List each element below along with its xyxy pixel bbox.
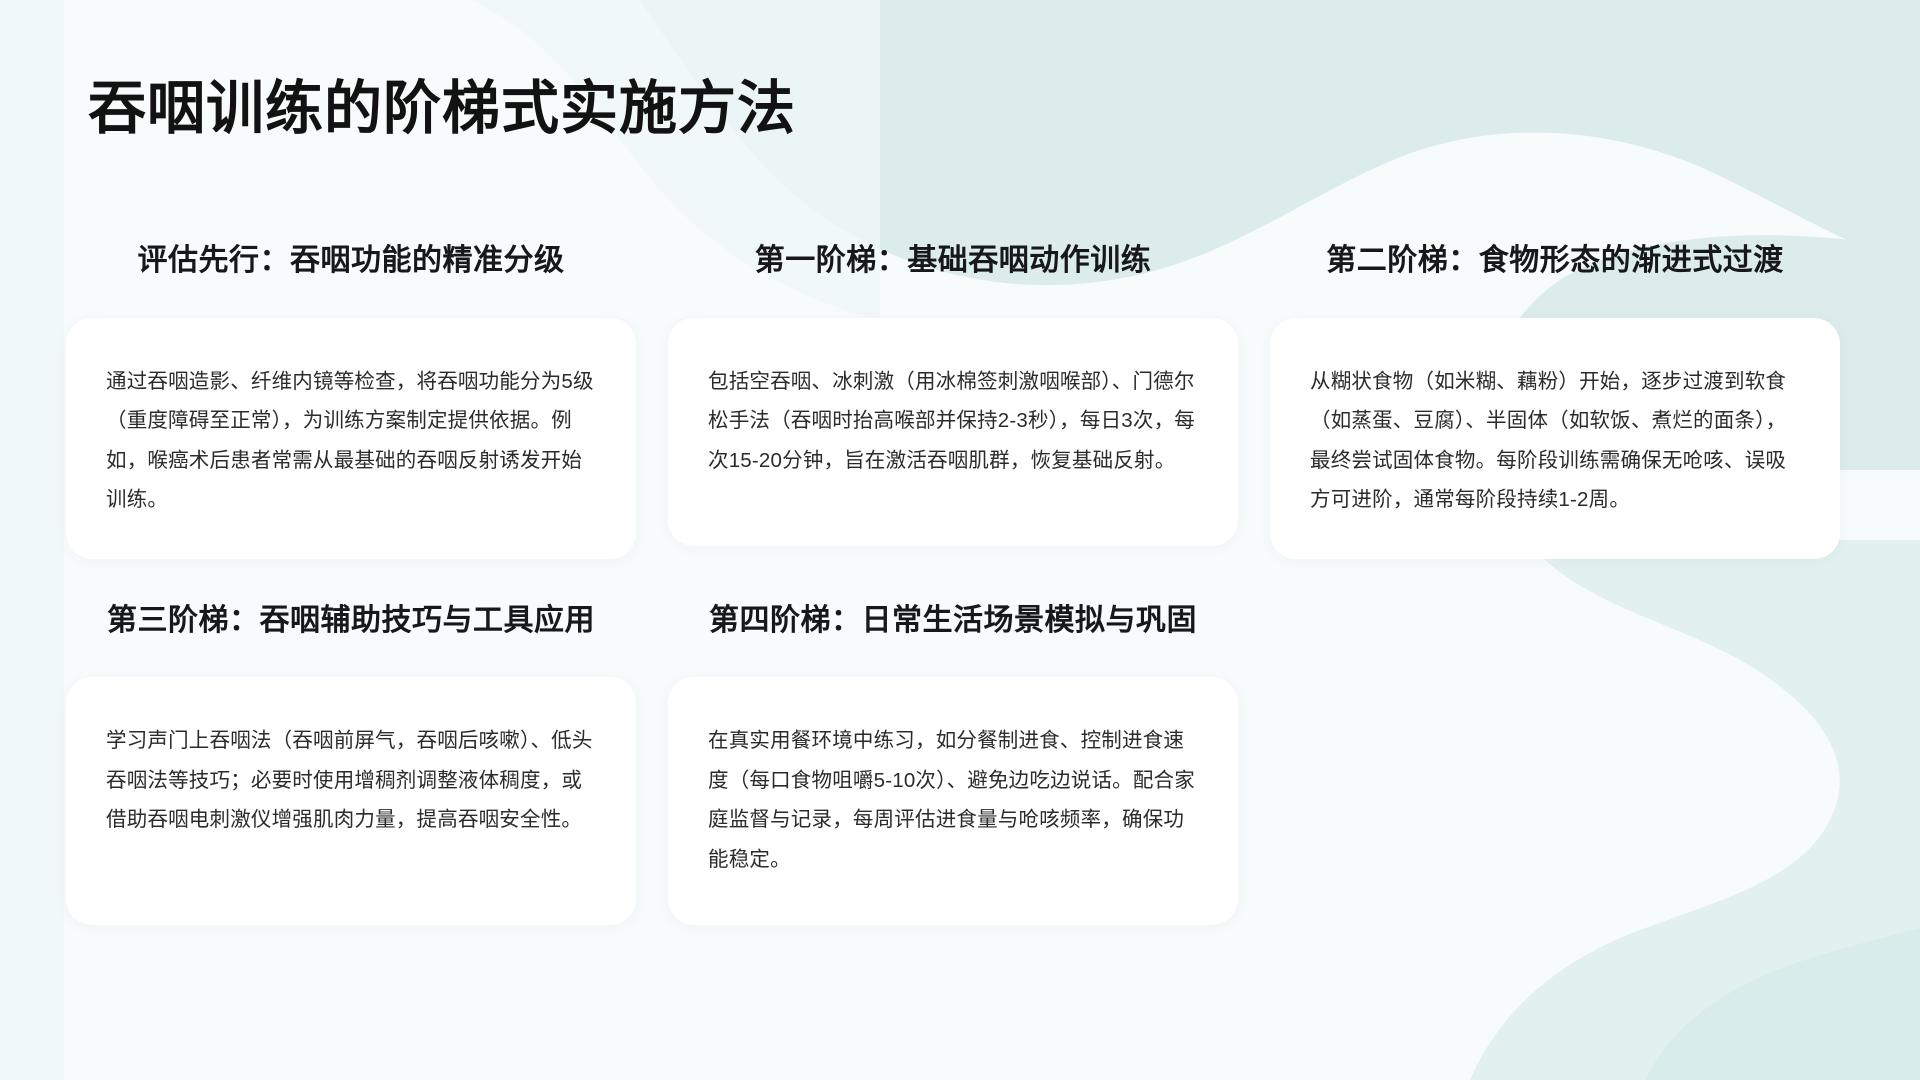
card-body-step-four: 在真实用餐环境中练习，如分餐制进食、控制进食速度（每口食物咀嚼5-10次）、避免… xyxy=(708,721,1198,878)
card-cell-empty xyxy=(1270,589,1840,925)
card-cell-step-one: 第一阶梯：基础吞咽动作训练 包括空吞咽、冰刺激（用冰棉签刺激咽喉部）、门德尔松手… xyxy=(668,230,1238,559)
card-step-three[interactable]: 学习声门上吞咽法（吞咽前屏气，吞咽后咳嗽）、低头吞咽法等技巧；必要时使用增稠剂调… xyxy=(66,677,636,925)
card-body-step-three: 学习声门上吞咽法（吞咽前屏气，吞咽后咳嗽）、低头吞咽法等技巧；必要时使用增稠剂调… xyxy=(106,721,596,839)
slide-root: 吞咽训练的阶梯式实施方法 评估先行：吞咽功能的精准分级 通过吞咽造影、纤维内镜等… xyxy=(0,0,1920,1080)
card-heading-step-four: 第四阶梯：日常生活场景模拟与巩固 xyxy=(668,589,1238,651)
card-body-step-two: 从糊状食物（如米糊、藕粉）开始，逐步过渡到软食（如蒸蛋、豆腐）、半固体（如软饭、… xyxy=(1310,362,1800,519)
card-step-one[interactable]: 包括空吞咽、冰刺激（用冰棉签刺激咽喉部）、门德尔松手法（吞咽时抬高喉部并保持2-… xyxy=(668,318,1238,546)
card-cell-step-two: 第二阶梯：食物形态的渐进式过渡 从糊状食物（如米糊、藕粉）开始，逐步过渡到软食（… xyxy=(1270,230,1840,559)
card-cell-assessment: 评估先行：吞咽功能的精准分级 通过吞咽造影、纤维内镜等检查，将吞咽功能分为5级（… xyxy=(66,230,636,559)
content-grid: 评估先行：吞咽功能的精准分级 通过吞咽造影、纤维内镜等检查，将吞咽功能分为5级（… xyxy=(0,230,1920,925)
card-body-step-one: 包括空吞咽、冰刺激（用冰棉签刺激咽喉部）、门德尔松手法（吞咽时抬高喉部并保持2-… xyxy=(708,362,1198,480)
card-assessment[interactable]: 通过吞咽造影、纤维内镜等检查，将吞咽功能分为5级（重度障碍至正常），为训练方案制… xyxy=(66,318,636,559)
card-cell-step-three: 第三阶梯：吞咽辅助技巧与工具应用 学习声门上吞咽法（吞咽前屏气，吞咽后咳嗽）、低… xyxy=(66,589,636,925)
card-step-two[interactable]: 从糊状食物（如米糊、藕粉）开始，逐步过渡到软食（如蒸蛋、豆腐）、半固体（如软饭、… xyxy=(1270,318,1840,559)
card-heading-step-three: 第三阶梯：吞咽辅助技巧与工具应用 xyxy=(66,589,636,651)
page-title: 吞咽训练的阶梯式实施方法 xyxy=(88,76,796,143)
card-heading-assessment: 评估先行：吞咽功能的精准分级 xyxy=(66,230,636,292)
card-cell-step-four: 第四阶梯：日常生活场景模拟与巩固 在真实用餐环境中练习，如分餐制进食、控制进食速… xyxy=(668,589,1238,925)
card-row-1: 评估先行：吞咽功能的精准分级 通过吞咽造影、纤维内镜等检查，将吞咽功能分为5级（… xyxy=(0,230,1920,559)
card-step-four[interactable]: 在真实用餐环境中练习，如分餐制进食、控制进食速度（每口食物咀嚼5-10次）、避免… xyxy=(668,677,1238,925)
card-row-2: 第三阶梯：吞咽辅助技巧与工具应用 学习声门上吞咽法（吞咽前屏气，吞咽后咳嗽）、低… xyxy=(0,589,1920,925)
card-body-assessment: 通过吞咽造影、纤维内镜等检查，将吞咽功能分为5级（重度障碍至正常），为训练方案制… xyxy=(106,362,596,519)
card-heading-step-one: 第一阶梯：基础吞咽动作训练 xyxy=(668,230,1238,292)
bottom-right-accent xyxy=(1645,928,1920,1080)
card-heading-step-two: 第二阶梯：食物形态的渐进式过渡 xyxy=(1270,230,1840,292)
